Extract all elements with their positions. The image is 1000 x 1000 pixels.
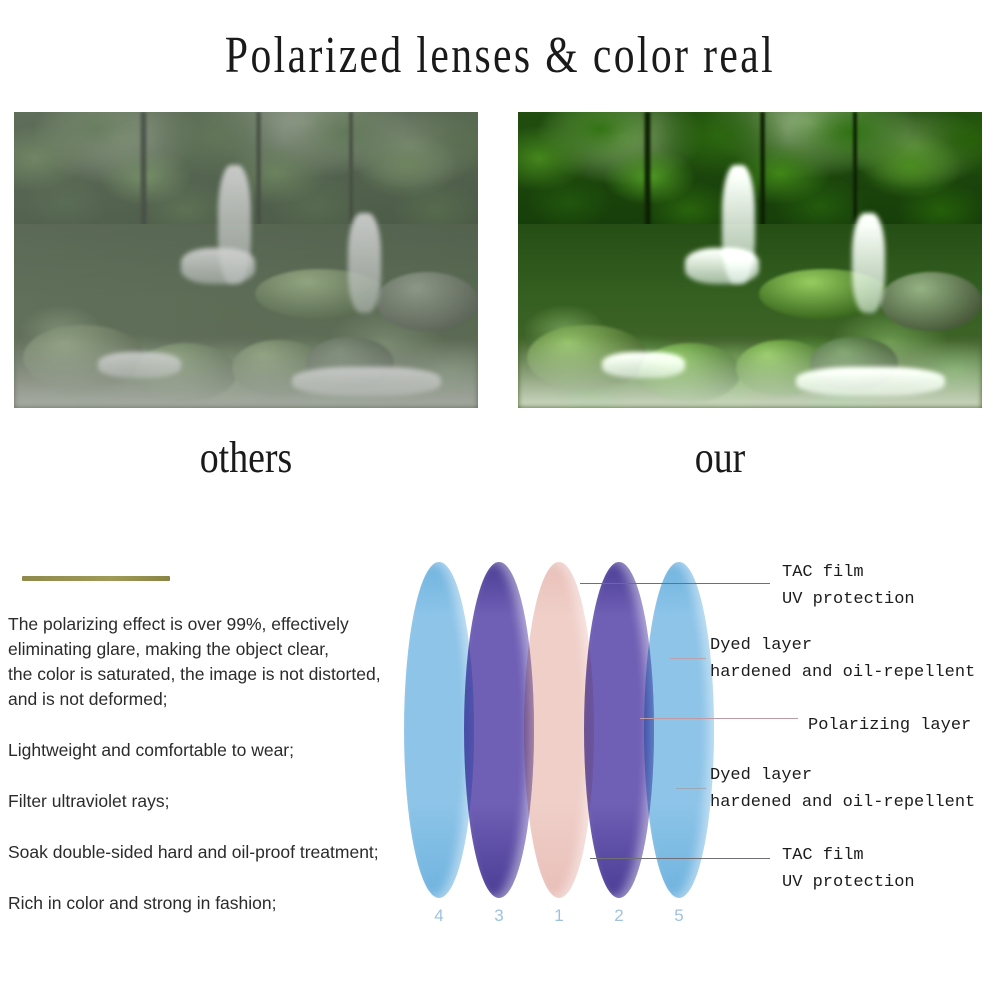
page-title: Polarized lenses & color real — [100, 26, 900, 86]
scene-tree-trunk — [852, 112, 858, 230]
caption-our: our — [617, 432, 823, 484]
feature-item: Filter ultraviolet rays; — [8, 789, 440, 814]
scene-boulder — [880, 272, 982, 331]
forest-waterfall-scene — [518, 112, 982, 408]
lens-layer-diagram: 4 3 1 2 5 — [404, 556, 714, 936]
gold-divider-rule — [22, 576, 170, 581]
feature-list: The polarizing effect is over 99%, effec… — [8, 612, 440, 916]
feature-item: Rich in color and strong in fashion; — [8, 891, 440, 916]
caption-others: others — [117, 432, 375, 484]
scene-waterfall — [852, 213, 884, 314]
comparison-photo-our — [518, 112, 982, 408]
leader-line-dyed-layer-bottom — [676, 788, 706, 789]
comparison-photo-others — [14, 112, 478, 408]
feature-item: Lightweight and comfortable to wear; — [8, 738, 440, 763]
leader-line-tac-film-bottom — [590, 858, 770, 859]
feature-item: Soak double-sided hard and oil-proof tre… — [8, 840, 440, 865]
lens-layer-5 — [644, 562, 714, 898]
leader-line-polarizing — [640, 718, 798, 719]
callout-tac-film-top: TAC film UV protection — [782, 559, 915, 613]
scene-waterfall — [685, 248, 759, 284]
scene-mist — [518, 337, 982, 408]
callout-tac-film-bottom: TAC film UV protection — [782, 842, 915, 896]
lens-number-label: 5 — [644, 906, 714, 926]
callout-dyed-layer-top: Dyed layer hardened and oil-repellent — [710, 632, 975, 686]
feature-item: The polarizing effect is over 99%, effec… — [8, 612, 440, 712]
callout-polarizing-layer: Polarizing layer — [808, 712, 971, 739]
leader-line-tac-film-top — [580, 583, 770, 584]
leader-line-dyed-layer-top — [670, 658, 706, 659]
callout-dyed-layer-bottom: Dyed layer hardened and oil-repellent — [710, 762, 975, 816]
glare-haze-overlay — [14, 112, 478, 408]
